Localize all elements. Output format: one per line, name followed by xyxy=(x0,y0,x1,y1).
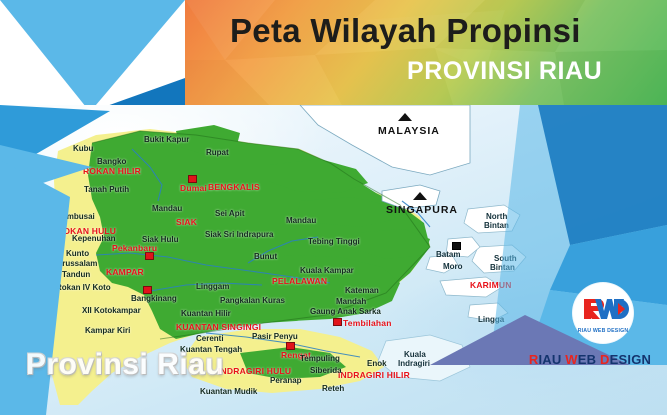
city-label-mandau-west: Mandau xyxy=(152,205,182,213)
city-label-linggam: Linggam xyxy=(196,283,229,291)
city-label-pasir-penyu: Pasir Penyu xyxy=(252,333,298,341)
capital-marker-rengat xyxy=(286,342,295,350)
logo-brand-text: RIAU WEB DESIGN xyxy=(513,352,667,367)
regency-label-indragiri-hulu: INDRAGIRI HULU xyxy=(218,367,291,376)
city-label-bunut: Bunut xyxy=(254,253,277,261)
city-label-tebing-tinggi: Tebing Tinggi xyxy=(308,238,360,246)
city-label-peranap: Peranap xyxy=(270,377,302,385)
city-label-sei-apit: Sei Apit xyxy=(215,210,244,218)
mountain-icon-singapura xyxy=(413,192,427,200)
brand-text-esign: ESIGN xyxy=(610,352,651,367)
city-label-gaung-anak-sarka: Gaung Anak Sarka xyxy=(310,308,381,316)
decor-triangles-right xyxy=(430,105,667,415)
riau-web-design-logo[interactable]: RIAU WEB DESIGN xyxy=(573,283,633,343)
capital-label-dumai: Dumai xyxy=(180,184,207,193)
mountain-icon-malaysia xyxy=(398,113,412,121)
city-label-tempuling: Tempuling xyxy=(300,355,340,363)
city-label-mandah: Mandah xyxy=(336,298,366,306)
regency-label-indragiri-hilir: INDRAGIRI HILIR xyxy=(338,371,410,380)
city-label-indragiri: Indragiri xyxy=(398,360,430,368)
page-subtitle: PROVINSI RIAU xyxy=(407,57,602,86)
city-label-kateman: Kateman xyxy=(345,287,379,295)
brand-letter-d: D xyxy=(600,352,610,367)
city-label-siberida: Siberida xyxy=(310,367,342,375)
city-label-siak-sri-indrapura: Siak Sri Indrapura xyxy=(205,231,273,239)
city-label-mandau-east: Mandau xyxy=(286,217,316,225)
city-label-bukit-kapur: Bukit Kapur xyxy=(144,136,189,144)
city-label-reteh: Reteh xyxy=(322,385,344,393)
rwd-monogram-icon xyxy=(573,283,633,343)
brand-text-iau: IAU xyxy=(538,352,565,367)
regency-label-bengkalis: BENGKALIS xyxy=(208,183,260,192)
brand-letter-w: W xyxy=(565,352,577,367)
regency-label-kuantan-singingi: KUANTAN SINGINGI xyxy=(176,323,261,332)
city-label-enok: Enok xyxy=(367,360,387,368)
city-label-cerenti: Cerenti xyxy=(196,335,224,343)
capital-label-tembilahan: Tembilahan xyxy=(343,319,392,328)
city-label-kuala: Kuala xyxy=(404,351,426,359)
logo-circle-caption: RIAU WEB DESIGN xyxy=(573,328,633,334)
city-label-pangkalan-kuras: Pangkalan Kuras xyxy=(220,297,285,305)
regency-label-siak: SIAK xyxy=(176,218,197,227)
capital-marker-dumai xyxy=(188,175,197,183)
header-banner: Peta Wilayah Propinsi PROVINSI RIAU xyxy=(185,0,667,111)
city-label-kuala-kampar: Kuala Kampar xyxy=(300,267,354,275)
city-label-kuantan-mudik: Kuantan Mudik xyxy=(200,388,257,396)
page-title: Peta Wilayah Propinsi xyxy=(230,12,581,50)
watermark-provinsi-riau: Provinsi Riau xyxy=(26,348,224,382)
brand-text-eb: EB xyxy=(578,352,600,367)
regency-label-pelalawan: PELALAWAN xyxy=(272,277,327,286)
city-label-kuantan-hilir: Kuantan Hilir xyxy=(181,310,231,318)
capital-marker-tembilahan xyxy=(333,318,342,326)
riau-province-map-banner: Peta Wilayah Propinsi PROVINSI RIAU xyxy=(0,0,667,415)
city-label-rupat: Rupat xyxy=(206,149,229,157)
